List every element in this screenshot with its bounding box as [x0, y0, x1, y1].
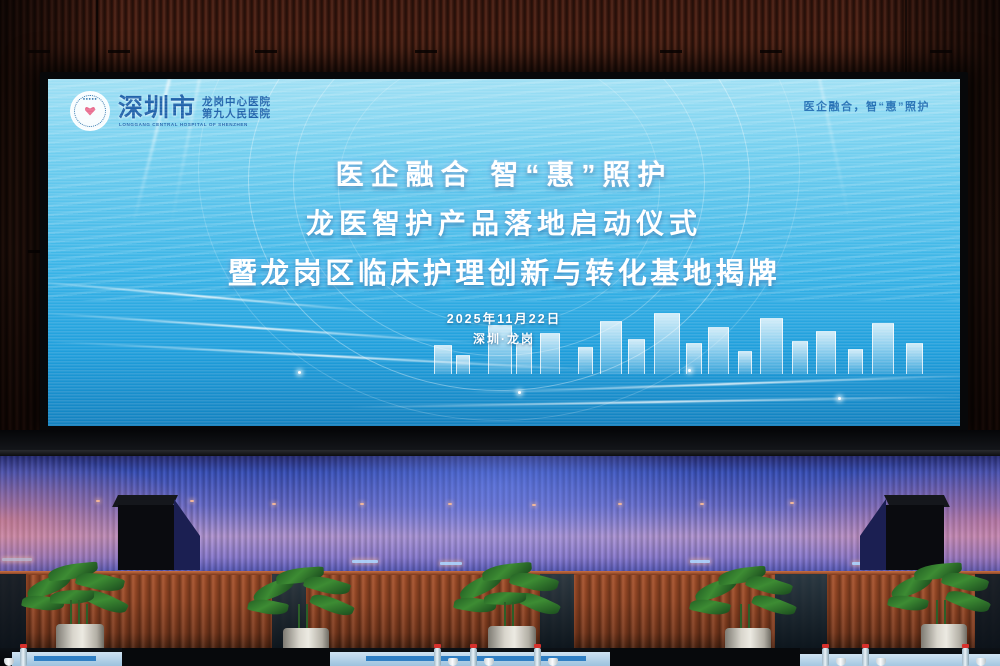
stage-monitor-speaker-left	[118, 495, 200, 570]
stage-lip-glint	[690, 560, 710, 563]
plant-leaf	[50, 589, 94, 605]
plant-leaf	[689, 596, 731, 618]
stage-floor-reflection	[360, 503, 364, 505]
bottle-cap	[962, 644, 969, 648]
wall-notch	[255, 50, 277, 53]
water-bottle	[822, 648, 829, 666]
wall-notch	[760, 50, 782, 53]
plant-leaf	[309, 590, 355, 621]
stage-floor-reflection	[96, 500, 100, 502]
plant-leaf	[887, 592, 929, 614]
stage-floor-reflection	[272, 503, 276, 505]
table-cloth-band	[34, 656, 96, 661]
led-scanline-overlay	[48, 79, 960, 426]
wall-notch	[930, 50, 952, 53]
stage-monitor-speaker-right	[860, 495, 944, 570]
water-bottle	[534, 648, 541, 666]
plant-leaf	[303, 572, 351, 599]
bottle-cap	[822, 644, 829, 648]
bottle-cap	[434, 644, 441, 648]
plant-leaf	[751, 590, 797, 619]
wall-notch	[660, 50, 682, 53]
water-bottle	[20, 648, 27, 666]
table-shadow	[122, 648, 330, 666]
wall-notch	[108, 50, 130, 53]
stage-floor-reflection	[618, 503, 622, 505]
plant-leaf	[247, 596, 289, 618]
stage-floor-reflection	[532, 504, 536, 506]
stage-floor-reflection	[700, 503, 704, 505]
bottle-cap	[470, 644, 477, 648]
table-cloth	[800, 654, 1000, 666]
bottle-cap	[534, 644, 541, 648]
bottle-cap	[20, 644, 27, 648]
wall-notch	[415, 50, 437, 53]
table-shadow	[610, 648, 800, 666]
water-bottle	[962, 648, 969, 666]
wall-notch	[28, 50, 50, 53]
water-bottle	[470, 648, 477, 666]
conference-hall-photo: ●●●●● 深圳市 龙岗中心医院 第九人民医院 LONGGANG CENTRAL…	[0, 0, 1000, 666]
stage-light-glow-center	[290, 456, 710, 574]
stage-lip-glint	[352, 560, 378, 563]
stage-floor-reflection	[448, 503, 452, 505]
water-bottle	[862, 648, 869, 666]
bottle-cap	[862, 644, 869, 648]
water-bottle	[434, 648, 441, 666]
stage-floor-reflection	[790, 502, 794, 504]
led-screen: ●●●●● 深圳市 龙岗中心医院 第九人民医院 LONGGANG CENTRAL…	[48, 79, 960, 426]
